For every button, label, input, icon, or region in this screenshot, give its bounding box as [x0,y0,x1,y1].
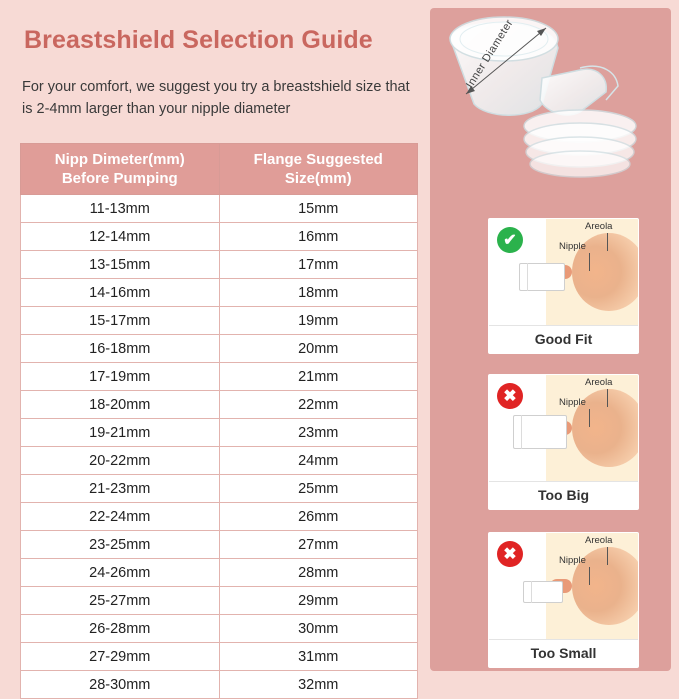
cell-nipple-diameter: 14-16mm [21,279,220,307]
flange-tunnel [519,263,565,291]
table-row: 20-22mm24mm [21,447,418,475]
areola-leader-line [607,547,608,565]
nipple-leader-line [589,409,590,427]
cell-flange-size: 28mm [219,559,418,587]
cell-nipple-diameter: 16-18mm [21,335,220,363]
cell-flange-size: 17mm [219,251,418,279]
table-row: 27-29mm31mm [21,643,418,671]
page-title: Breastshield Selection Guide [24,26,373,55]
cell-nipple-diameter: 26-28mm [21,615,220,643]
table-row: 12-14mm16mm [21,223,418,251]
left-column: Breastshield Selection Guide For your co… [0,0,428,679]
cell-nipple-diameter: 22-24mm [21,503,220,531]
table-row: 24-26mm28mm [21,559,418,587]
fit-illustration-good: Areola Nipple ✔ [489,219,638,325]
table-header-row: Nipp Dimeter(mm) Before Pumping Flange S… [21,144,418,195]
fit-card-too-big: Areola Nipple ✖ Too Big [488,374,639,510]
cell-flange-size: 15mm [219,195,418,223]
nipple-leader-line [589,253,590,271]
areola-leader-line [607,233,608,251]
cell-flange-size: 31mm [219,643,418,671]
table-row: 26-28mm30mm [21,615,418,643]
cell-flange-size: 29mm [219,587,418,615]
cell-flange-size: 16mm [219,223,418,251]
cell-nipple-diameter: 23-25mm [21,531,220,559]
fit-card-good: Areola Nipple ✔ Good Fit [488,218,639,354]
header-left-line1: Nipp Dimeter(mm) [25,150,215,169]
areola-label: Areola [585,535,612,546]
fit-illustration-too-big: Areola Nipple ✖ [489,375,638,481]
cell-nipple-diameter: 15-17mm [21,307,220,335]
header-right-line2: Size(mm) [224,169,414,188]
table-body: 11-13mm15mm12-14mm16mm13-15mm17mm14-16mm… [21,195,418,699]
cell-flange-size: 22mm [219,391,418,419]
table-header-flange-size: Flange Suggested Size(mm) [219,144,418,195]
check-icon: ✔ [497,227,523,253]
cell-nipple-diameter: 11-13mm [21,195,220,223]
cell-flange-size: 25mm [219,475,418,503]
breastshield-svg [430,8,671,200]
fit-caption-good: Good Fit [489,325,638,353]
cell-nipple-diameter: 13-15mm [21,251,220,279]
cell-flange-size: 18mm [219,279,418,307]
cell-nipple-diameter: 28-30mm [21,671,220,699]
cell-nipple-diameter: 27-29mm [21,643,220,671]
cross-icon: ✖ [497,541,523,567]
guide-page: Breastshield Selection Guide For your co… [0,0,679,679]
page-subtitle: For your comfort, we suggest you try a b… [22,76,422,120]
fit-caption-too-small: Too Small [489,639,638,667]
table-row: 13-15mm17mm [21,251,418,279]
table-row: 11-13mm15mm [21,195,418,223]
cell-flange-size: 30mm [219,615,418,643]
areola-leader-line [607,389,608,407]
cell-nipple-diameter: 20-22mm [21,447,220,475]
cell-flange-size: 32mm [219,671,418,699]
nipple-leader-line [589,567,590,585]
cell-flange-size: 23mm [219,419,418,447]
cell-flange-size: 19mm [219,307,418,335]
flange-tunnel [523,581,563,603]
cross-icon: ✖ [497,383,523,409]
table-row: 28-30mm32mm [21,671,418,699]
cell-nipple-diameter: 17-19mm [21,363,220,391]
nipple-label: Nipple [559,241,586,252]
header-left-line2: Before Pumping [25,169,215,188]
table-row: 23-25mm27mm [21,531,418,559]
fit-caption-too-big: Too Big [489,481,638,509]
cell-nipple-diameter: 12-14mm [21,223,220,251]
table-row: 19-21mm23mm [21,419,418,447]
table-row: 15-17mm19mm [21,307,418,335]
table-row: 25-27mm29mm [21,587,418,615]
table-row: 16-18mm20mm [21,335,418,363]
areola-label: Areola [585,377,612,388]
cell-flange-size: 26mm [219,503,418,531]
size-table: Nipp Dimeter(mm) Before Pumping Flange S… [20,143,418,699]
areola-label: Areola [585,221,612,232]
right-panel: Inner Diameter Areola Nipple ✔ Good Fit [430,8,671,671]
flange-tunnel [513,415,567,449]
cell-nipple-diameter: 18-20mm [21,391,220,419]
cell-flange-size: 24mm [219,447,418,475]
nipple-label: Nipple [559,397,586,408]
fit-card-too-small: Areola Nipple ✖ Too Small [488,532,639,668]
breastshield-illustration: Inner Diameter [430,8,671,200]
cell-flange-size: 20mm [219,335,418,363]
table-row: 21-23mm25mm [21,475,418,503]
nipple-label: Nipple [559,555,586,566]
cell-flange-size: 21mm [219,363,418,391]
table-row: 18-20mm22mm [21,391,418,419]
header-right-line1: Flange Suggested [224,150,414,169]
cell-nipple-diameter: 25-27mm [21,587,220,615]
table-row: 22-24mm26mm [21,503,418,531]
cell-nipple-diameter: 21-23mm [21,475,220,503]
fit-illustration-too-small: Areola Nipple ✖ [489,533,638,639]
table-row: 17-19mm21mm [21,363,418,391]
cell-flange-size: 27mm [219,531,418,559]
table-row: 14-16mm18mm [21,279,418,307]
cell-nipple-diameter: 19-21mm [21,419,220,447]
cell-nipple-diameter: 24-26mm [21,559,220,587]
table-header-nipple-diameter: Nipp Dimeter(mm) Before Pumping [21,144,220,195]
